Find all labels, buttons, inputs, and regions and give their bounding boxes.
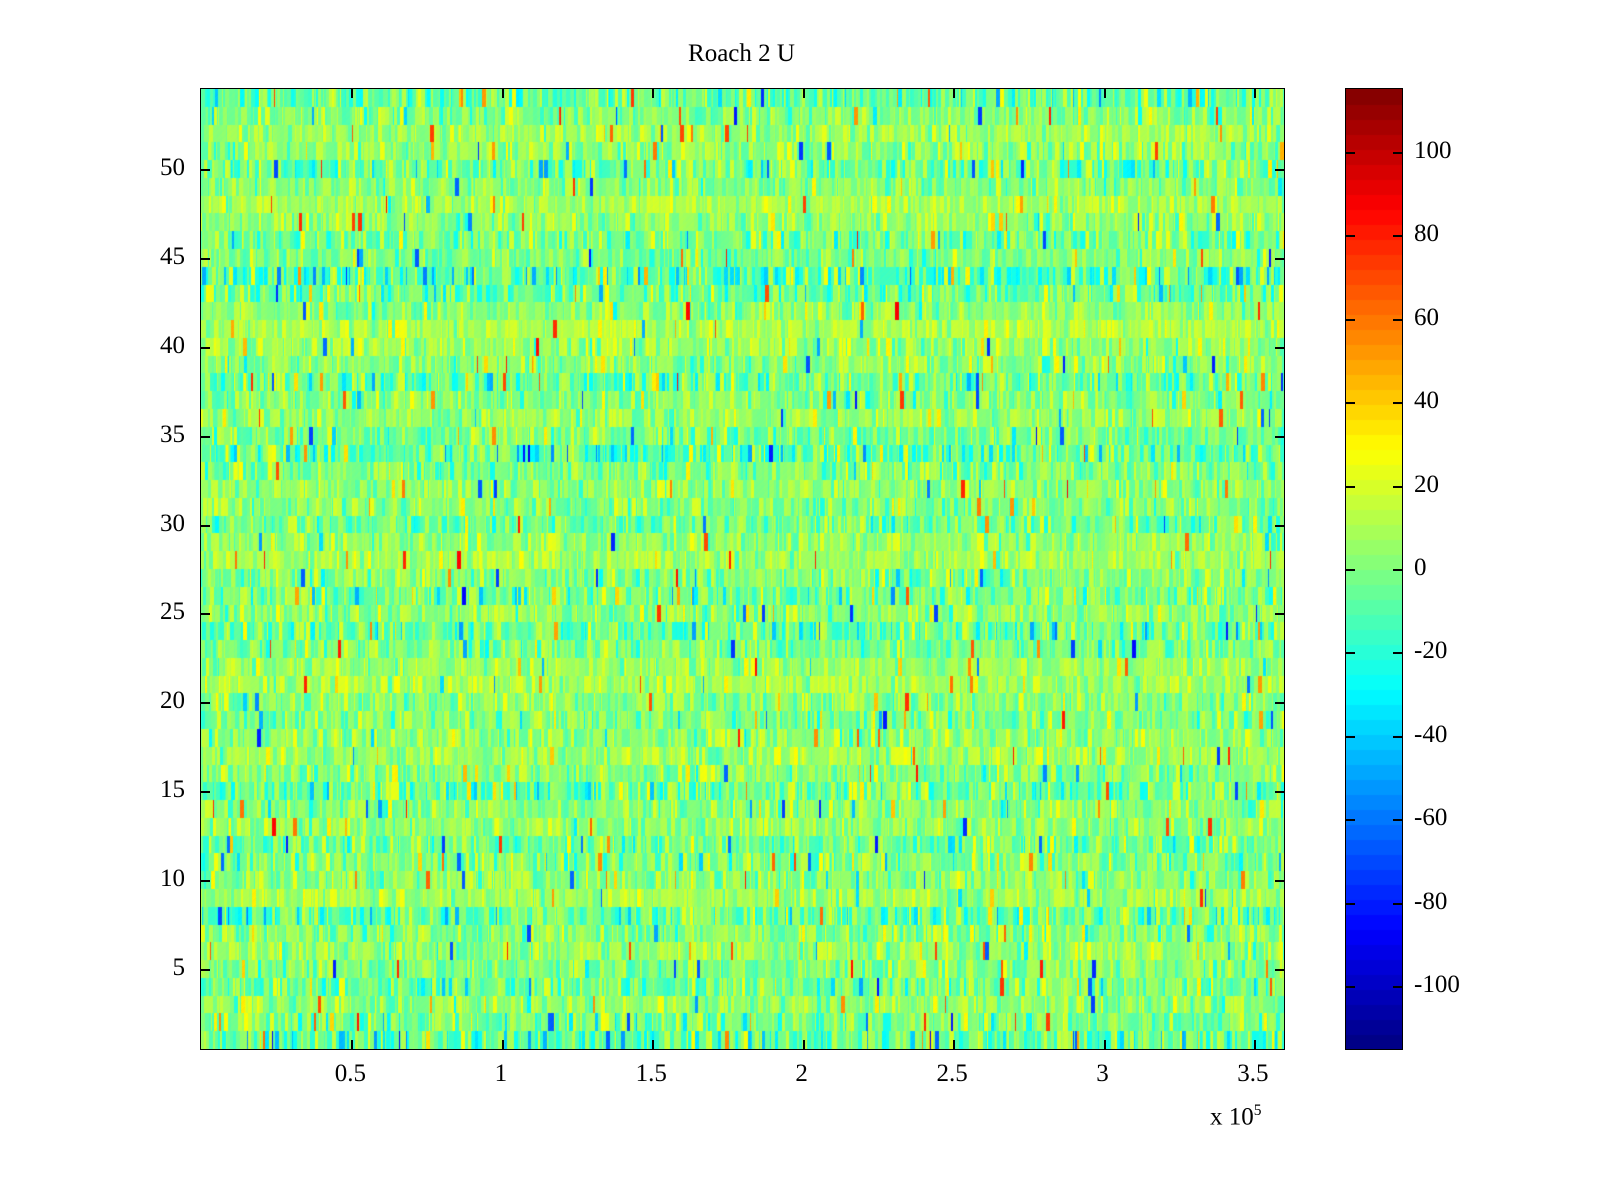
colorbar-tick-label: -60 xyxy=(1414,804,1447,832)
x-tick-label: 3 xyxy=(1096,1060,1109,1088)
y-tick-label: 30 xyxy=(105,510,185,538)
colorbar-tick-mark-right xyxy=(1393,736,1402,738)
y-tick-mark xyxy=(201,436,210,438)
y-tick-mark xyxy=(201,169,210,171)
colorbar-tick-label: 20 xyxy=(1414,471,1439,499)
y-tick-label: 25 xyxy=(105,598,185,626)
x-tick-mark-top xyxy=(351,89,353,98)
colorbar-tick-mark xyxy=(1346,903,1355,905)
colorbar-tick-label: 60 xyxy=(1414,304,1439,332)
x-tick-mark xyxy=(803,1040,805,1049)
y-tick-mark xyxy=(201,969,210,971)
y-tick-mark xyxy=(201,613,210,615)
colorbar-tick-label: 0 xyxy=(1414,554,1427,582)
x-tick-label: 3.5 xyxy=(1237,1060,1268,1088)
y-tick-label: 20 xyxy=(105,687,185,715)
colorbar-tick-label: -80 xyxy=(1414,888,1447,916)
heatmap-axes[interactable] xyxy=(200,88,1285,1050)
x-exponent-power: 5 xyxy=(1254,1102,1262,1119)
colorbar-tick-mark-right xyxy=(1393,235,1402,237)
colorbar-tick-mark xyxy=(1346,152,1355,154)
colorbar-tick-mark xyxy=(1346,736,1355,738)
colorbar-tick-mark-right xyxy=(1393,319,1402,321)
x-exponent-base: x 10 xyxy=(1210,1103,1254,1130)
colorbar-tick-mark-right xyxy=(1393,402,1402,404)
colorbar-tick-label: 100 xyxy=(1414,137,1452,165)
colorbar-tick-mark xyxy=(1346,235,1355,237)
x-tick-mark-top xyxy=(652,89,654,98)
figure-canvas: Roach 2 U 0.511.522.533.5 51015202530354… xyxy=(0,0,1600,1200)
y-tick-label: 10 xyxy=(105,865,185,893)
page-title: Roach 2 U xyxy=(200,40,1283,68)
colorbar-tick-label: -20 xyxy=(1414,637,1447,665)
colorbar-tick-mark-right xyxy=(1393,986,1402,988)
y-tick-mark-right xyxy=(1275,169,1284,171)
colorbar-tick-mark-right xyxy=(1393,652,1402,654)
colorbar-tick-mark xyxy=(1346,986,1355,988)
x-tick-mark-top xyxy=(953,89,955,98)
colorbar-tick-mark-right xyxy=(1393,819,1402,821)
y-tick-mark xyxy=(201,347,210,349)
x-tick-mark-top xyxy=(502,89,504,98)
x-tick-mark xyxy=(351,1040,353,1049)
colorbar-tick-label: -100 xyxy=(1414,971,1460,999)
y-tick-mark-right xyxy=(1275,436,1284,438)
colorbar-tick-mark xyxy=(1346,319,1355,321)
y-tick-mark-right xyxy=(1275,702,1284,704)
colorbar-tick-mark-right xyxy=(1393,486,1402,488)
x-axis-exponent-label: x 105 xyxy=(1210,1102,1262,1131)
x-tick-label: 0.5 xyxy=(335,1060,366,1088)
y-tick-mark-right xyxy=(1275,791,1284,793)
colorbar-tick-mark xyxy=(1346,486,1355,488)
y-tick-mark xyxy=(201,880,210,882)
colorbar-tick-label: 40 xyxy=(1414,387,1439,415)
x-tick-label: 1 xyxy=(495,1060,508,1088)
y-tick-mark xyxy=(201,525,210,527)
colorbar-tick-mark xyxy=(1346,819,1355,821)
y-tick-label: 5 xyxy=(105,954,185,982)
colorbar[interactable] xyxy=(1345,88,1403,1050)
x-tick-mark-top xyxy=(1254,89,1256,98)
colorbar-tick-mark xyxy=(1346,402,1355,404)
y-tick-label: 45 xyxy=(105,243,185,271)
heatmap-image xyxy=(201,89,1284,1049)
y-tick-mark-right xyxy=(1275,347,1284,349)
x-tick-mark-top xyxy=(803,89,805,98)
y-tick-label: 15 xyxy=(105,776,185,804)
colorbar-tick-mark-right xyxy=(1393,569,1402,571)
colorbar-tick-mark xyxy=(1346,652,1355,654)
y-tick-label: 40 xyxy=(105,332,185,360)
colorbar-tick-label: -40 xyxy=(1414,721,1447,749)
x-tick-mark-top xyxy=(1104,89,1106,98)
x-tick-mark xyxy=(1104,1040,1106,1049)
y-tick-mark-right xyxy=(1275,613,1284,615)
x-tick-label: 2 xyxy=(795,1060,808,1088)
y-tick-mark-right xyxy=(1275,258,1284,260)
y-tick-mark-right xyxy=(1275,525,1284,527)
x-tick-mark xyxy=(652,1040,654,1049)
x-tick-mark xyxy=(1254,1040,1256,1049)
y-tick-label: 35 xyxy=(105,421,185,449)
y-tick-mark-right xyxy=(1275,880,1284,882)
y-tick-mark-right xyxy=(1275,969,1284,971)
x-tick-label: 1.5 xyxy=(636,1060,667,1088)
colorbar-tick-mark-right xyxy=(1393,152,1402,154)
y-tick-mark xyxy=(201,702,210,704)
y-tick-mark xyxy=(201,791,210,793)
colorbar-tick-mark-right xyxy=(1393,903,1402,905)
y-tick-mark xyxy=(201,258,210,260)
x-tick-mark xyxy=(953,1040,955,1049)
x-tick-mark xyxy=(502,1040,504,1049)
y-tick-label: 50 xyxy=(105,154,185,182)
colorbar-tick-mark xyxy=(1346,569,1355,571)
x-tick-label: 2.5 xyxy=(936,1060,967,1088)
colorbar-tick-label: 80 xyxy=(1414,220,1439,248)
